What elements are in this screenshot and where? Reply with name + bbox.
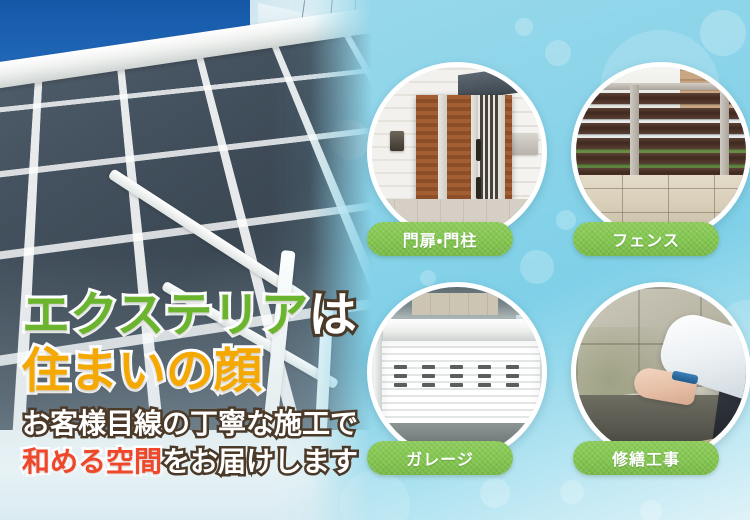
shutter-vent xyxy=(506,374,519,378)
shutter-vent xyxy=(478,374,491,378)
shutter-vent xyxy=(506,365,519,369)
category-label-text: フェンス xyxy=(612,227,680,251)
repair-inspection-photo xyxy=(576,287,746,457)
shutter-vent xyxy=(394,365,407,369)
bokeh-circle xyxy=(560,480,584,504)
shutter-vent xyxy=(450,383,463,387)
category-photo-gate[interactable] xyxy=(367,62,547,242)
bokeh-circle xyxy=(640,500,662,520)
gate-handle xyxy=(476,139,481,161)
intercom-unit xyxy=(390,131,404,151)
headline-line-1: エクステリアは xyxy=(22,292,372,340)
shutter-vent xyxy=(478,383,491,387)
gate-entrance-photo xyxy=(372,67,542,237)
headline-line-2: 住まいの顔 xyxy=(22,348,372,396)
shutter-vent xyxy=(450,374,463,378)
fence-photo xyxy=(576,67,746,237)
headline-wa-particle: は xyxy=(309,289,357,342)
shutter-vent xyxy=(394,383,407,387)
subheadline-text-2: をお届けします xyxy=(162,446,358,477)
shutter-vent xyxy=(394,374,407,378)
bokeh-circle xyxy=(545,40,571,66)
bokeh-circle xyxy=(420,270,436,286)
bokeh-circle xyxy=(700,10,746,56)
headline-sumai-no-kao-text: 住まいの顔 xyxy=(22,345,262,398)
bokeh-circle xyxy=(520,250,554,284)
shutter-vent xyxy=(478,365,491,369)
gate-handle xyxy=(476,177,481,199)
category-photo-fence[interactable] xyxy=(571,62,750,242)
category-label-text: 修繕工事 xyxy=(612,446,680,470)
fence-post xyxy=(630,85,639,189)
bokeh-circle xyxy=(515,18,533,36)
category-label-gate[interactable]: 門扉・門柱 xyxy=(367,222,513,256)
garage-shutter-photo xyxy=(372,287,542,457)
shutter-vent xyxy=(450,365,463,369)
shutter-vent xyxy=(422,365,435,369)
subheadline-line-2: 和める空間をお届けします xyxy=(22,448,372,476)
stone-trim xyxy=(412,293,498,315)
category-label-text: 門扉・門柱 xyxy=(403,227,477,251)
category-photo-repair[interactable] xyxy=(571,282,750,462)
exterior-hero-banner: 門扉・門柱 フェンス ガレージ 修繕工事 エクステリアは 住まいの顔 お客様目線… xyxy=(0,0,750,520)
headline-block: エクステリアは 住まいの顔 お客様目線の丁寧な施工で 和める空間をお届けします xyxy=(22,292,372,476)
category-label-repair[interactable]: 修繕工事 xyxy=(573,441,719,475)
subheadline-highlight-text: 和める空間 xyxy=(22,446,162,477)
shutter-vent xyxy=(422,374,435,378)
subheadline-line-1: お客様目線の丁寧な施工で xyxy=(22,410,372,438)
shutter-hood xyxy=(378,319,546,341)
category-label-text: ガレージ xyxy=(406,446,474,470)
shutter-vent xyxy=(506,383,519,387)
category-label-garage[interactable]: ガレージ xyxy=(367,441,513,475)
category-photo-garage[interactable] xyxy=(367,282,547,462)
fence-post xyxy=(720,85,729,189)
shutter-vent xyxy=(422,383,435,387)
category-label-fence[interactable]: フェンス xyxy=(573,222,719,256)
fence-panel xyxy=(571,91,750,179)
bokeh-circle xyxy=(556,210,576,230)
bokeh-circle xyxy=(480,478,510,508)
headline-exterior-text: エクステリア xyxy=(22,289,309,342)
subheadline-text-1: お客様目線の丁寧な施工で xyxy=(22,408,358,439)
